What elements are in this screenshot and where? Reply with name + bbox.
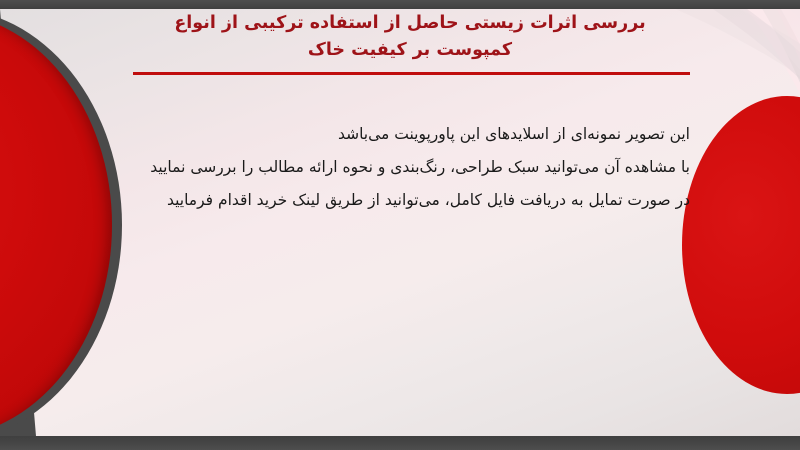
title-divider-line (133, 72, 690, 75)
top-frame-bar (0, 0, 800, 9)
bottom-frame-bar (0, 436, 800, 450)
presentation-slide: بررسی اثرات زیستی حاصل از استفاده ترکیبی… (0, 0, 800, 450)
slide-title-line-1: بررسی اثرات زیستی حاصل از استفاده ترکیبی… (120, 10, 700, 37)
body-line-2: با مشاهده آن می‌توانید سبک طراحی، رنگ‌بن… (105, 155, 690, 179)
slide-body-text: این تصویر نمونه‌ای از اسلایدهای این پاور… (105, 122, 690, 212)
body-line-1: این تصویر نمونه‌ای از اسلایدهای این پاور… (105, 122, 690, 146)
body-line-3: در صورت تمایل به دریافت فایل کامل، می‌تو… (105, 188, 690, 212)
slide-title: بررسی اثرات زیستی حاصل از استفاده ترکیبی… (120, 10, 700, 63)
slide-title-line-2: کمپوست بر کیفیت خاک (120, 37, 700, 64)
